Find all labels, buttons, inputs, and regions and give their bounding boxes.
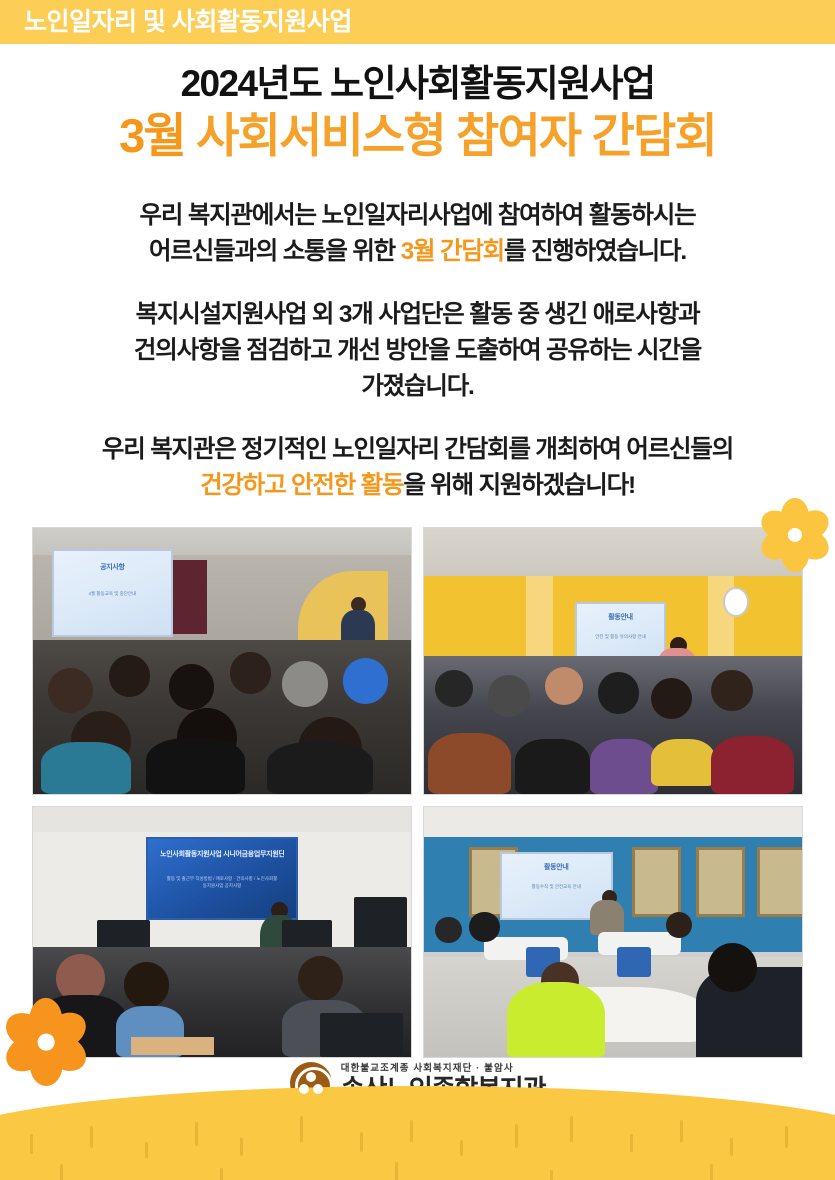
audience-head	[109, 655, 151, 697]
paragraph-1-line-2a: 어르신들과의 소통을 위한	[149, 238, 401, 265]
audience-body	[711, 736, 794, 794]
window-blind	[757, 847, 803, 917]
paragraph-3-line-1: 우리 복지관은 정기적인 노인일자리 간담회를 개최하여 어르신들의	[102, 436, 733, 463]
photo-blue-classroom: 활동안내 활동수칙 및 안전교육 안내	[423, 806, 803, 1058]
photo-grid: 공지사항 4월 활동교육 및 중단안내	[32, 527, 803, 1058]
slide-body: 활동 및 출근부 작성방법 / 애로사항 · 건의사항 / 노인사회활동지원사업…	[166, 875, 278, 889]
audience-head-hat	[545, 667, 583, 705]
audience-crowd	[33, 640, 411, 794]
audience-head	[711, 670, 753, 712]
audience-head-cap	[343, 658, 388, 703]
photo-computer-room: 노인사회활동지원사업 시니어금융업무지원단 간담회 활동 및 출근부 작성방법 …	[32, 806, 412, 1058]
audience-head-cap	[488, 675, 530, 717]
slide-title: 공지사항	[63, 563, 161, 572]
window-blind	[696, 847, 745, 917]
title-month: 3월	[119, 109, 185, 162]
top-banner-label: 노인일자리 및 사회활동지원사업	[0, 0, 352, 44]
poster-canvas: 노인일자리 및 사회활동지원사업 2024년도 노인사회활동지원사업 3월 사회…	[0, 0, 835, 1180]
paragraph-1: 우리 복지관에서는 노인일자리사업에 참여하여 활동하시는 어르신들과의 소통을…	[0, 198, 835, 270]
bottom-ground-decoration	[0, 1086, 835, 1180]
computer-desk	[131, 1037, 214, 1055]
audience-head	[230, 652, 272, 694]
slide-body: 안전 및 활동 유의사항 안내	[588, 633, 654, 640]
audience-body	[146, 738, 244, 794]
classroom-chair	[617, 947, 651, 977]
audience-head	[298, 956, 343, 1001]
audience-head	[282, 661, 327, 706]
audience-head	[651, 678, 693, 720]
paragraph-1-line-1: 우리 복지관에서는 노인일자리사업에 참여하여 활동하시는	[140, 202, 696, 229]
audience-foreground	[33, 947, 411, 1057]
audience-head	[169, 664, 214, 709]
paragraph-1-highlight: 3월 간담회	[401, 238, 504, 265]
audience-head	[435, 917, 461, 943]
paragraph-2-line-2: 건의사항을 점검하고 개선 방안을 도출하여 공유하는 시간을	[134, 337, 701, 364]
audience-head	[48, 668, 93, 713]
presenter-body	[590, 900, 624, 935]
paragraph-3: 우리 복지관은 정기적인 노인일자리 간담회를 개최하여 어르신들의 건강하고 …	[0, 432, 835, 504]
audience-body	[651, 739, 715, 786]
audience-body	[267, 742, 373, 794]
title-subject: 사회서비스형 참여자 간담회	[196, 109, 716, 162]
projection-screen: 공지사항 4월 활동교육 및 중단안내	[52, 549, 173, 637]
photo-yellow-hall: 활동안내 안전 및 활동 유의사항 안내	[423, 527, 803, 795]
paragraph-1-line-2b: 를 진행하였습니다.	[504, 238, 686, 265]
slide-title: 활동안내	[584, 613, 657, 622]
audience-body	[428, 733, 511, 794]
audience-head	[598, 672, 640, 714]
wall-clock-icon	[723, 587, 749, 617]
photo-auditorium: 공지사항 4월 활동교육 및 중단안내	[32, 527, 412, 795]
window-blind	[632, 847, 681, 917]
audience-head	[435, 670, 473, 708]
paragraph-2-line-3: 가졌습니다.	[361, 373, 473, 400]
paragraph-2-line-1: 복지시설지원사업 외 3개 사업단은 활동 중 생긴 애로사항과	[136, 301, 700, 328]
audience-crowd	[424, 656, 802, 794]
audience-head	[469, 912, 499, 942]
title-line-2: 3월 사회서비스형 참여자 간담회	[0, 108, 835, 164]
slide-title: 활동안내	[510, 863, 602, 872]
body-block: 우리 복지관에서는 노인일자리사업에 참여하여 활동하시는 어르신들과의 소통을…	[0, 198, 835, 504]
slide-title: 노인사회활동지원사업 시니어금융업무지원단 간담회	[160, 850, 284, 859]
flower-icon-right	[763, 503, 827, 567]
audience-vest	[507, 982, 605, 1057]
audience-head	[708, 943, 757, 992]
logo-dot	[313, 1084, 323, 1094]
audience-body	[41, 742, 132, 794]
slide-body: 활동수칙 및 안전교육 안내	[515, 883, 598, 890]
paragraph-3-highlight: 건강하고 안전한 활동	[200, 472, 403, 499]
logo-dot	[306, 1072, 316, 1082]
computer-monitor	[320, 1013, 403, 1057]
paragraph-3-line-2: 을 위해 지원하겠습니다!	[403, 472, 635, 499]
slide-body: 4월 활동교육 및 중단안내	[68, 590, 157, 597]
audience-head	[124, 962, 169, 1007]
title-block: 2024년도 노인사회활동지원사업 3월 사회서비스형 참여자 간담회	[0, 62, 835, 164]
paragraph-2: 복지시설지원사업 외 3개 사업단은 활동 중 생긴 애로사항과 건의사항을 점…	[0, 297, 835, 405]
top-banner: 노인일자리 및 사회활동지원사업	[0, 0, 835, 44]
logo-dot	[299, 1084, 309, 1094]
title-line-1: 2024년도 노인사회활동지원사업	[0, 62, 835, 106]
audience-body	[515, 739, 591, 794]
audience-body	[590, 739, 658, 794]
